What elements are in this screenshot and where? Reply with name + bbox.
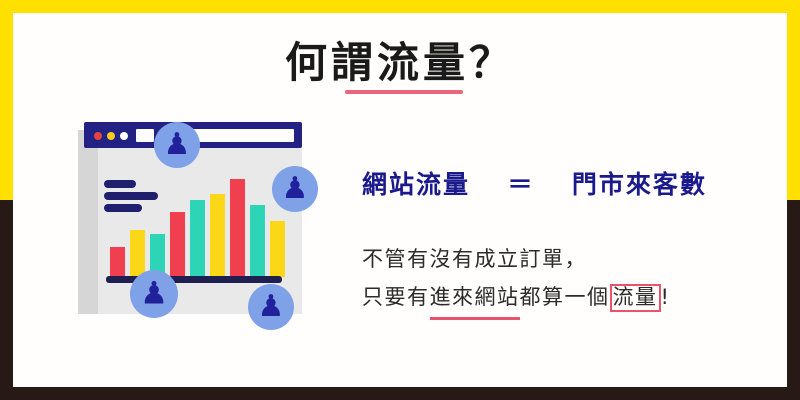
chart-bar [270,221,285,277]
body-line-1: 不管有沒有成立訂單， [362,240,762,278]
visitor-avatar-2: ♟ [272,166,318,212]
person-icon: ♟ [140,279,168,310]
border-right-top [787,0,800,200]
border-top [0,0,800,13]
browser-sidebar-strip [78,130,98,314]
equation-line: 網站流量 ＝ 門市來客數 [362,165,742,201]
person-icon: ♟ [164,130,191,160]
equation-right-term: 門市來客數 [572,170,707,199]
chart-bar [110,247,125,277]
chart-bar [170,212,185,277]
body-line-2: 只要有進來網站都算一個流量! [362,278,762,320]
maximize-dot-icon [120,132,128,140]
person-icon: ♟ [258,292,285,322]
body-text-block: 不管有沒有成立訂單， 只要有進來網站都算一個流量! [362,240,762,320]
chart-bar [190,200,205,277]
border-bottom [0,387,800,400]
body-underlined-phrase: 進來網站 [430,278,520,320]
close-dot-icon [94,132,102,140]
border-left-top [0,0,13,200]
visitor-avatar-1: ♟ [154,122,200,168]
equation-operator: ＝ [507,170,534,199]
body-line-2-suffix: ! [661,285,671,309]
chart-bar [130,230,145,277]
illustration: ♟ ♟ ♟ ♟ [72,118,312,320]
slide-frame: 何謂流量？ 網站流量 ＝ 門市來客數 不管有沒有成立訂單， 只要有進來網站都算一… [0,0,800,400]
body-line-2-prefix: 只要有 [362,285,430,309]
visitor-avatar-4: ♟ [248,284,294,330]
border-right-bottom [787,200,800,400]
border-left-bottom [0,200,13,400]
body-boxed-keyword: 流量 [610,284,661,312]
title-underline-accent [345,90,463,94]
visitor-avatar-3: ♟ [130,270,178,318]
chart-bar [210,194,225,277]
chart-bar [230,179,245,277]
page-title-text: 何謂流量？ [285,38,515,87]
person-icon: ♟ [282,174,309,204]
bar-chart [110,178,288,277]
body-line-2-middle: 都算一個 [520,285,610,309]
page-title-wrap: 何謂流量？ [0,42,800,84]
tab-box-icon [136,129,154,142]
chart-bar [250,205,265,277]
page-title: 何謂流量？ [285,42,515,84]
equation-left-term: 網站流量 [362,170,470,199]
minimize-dot-icon [107,132,115,140]
